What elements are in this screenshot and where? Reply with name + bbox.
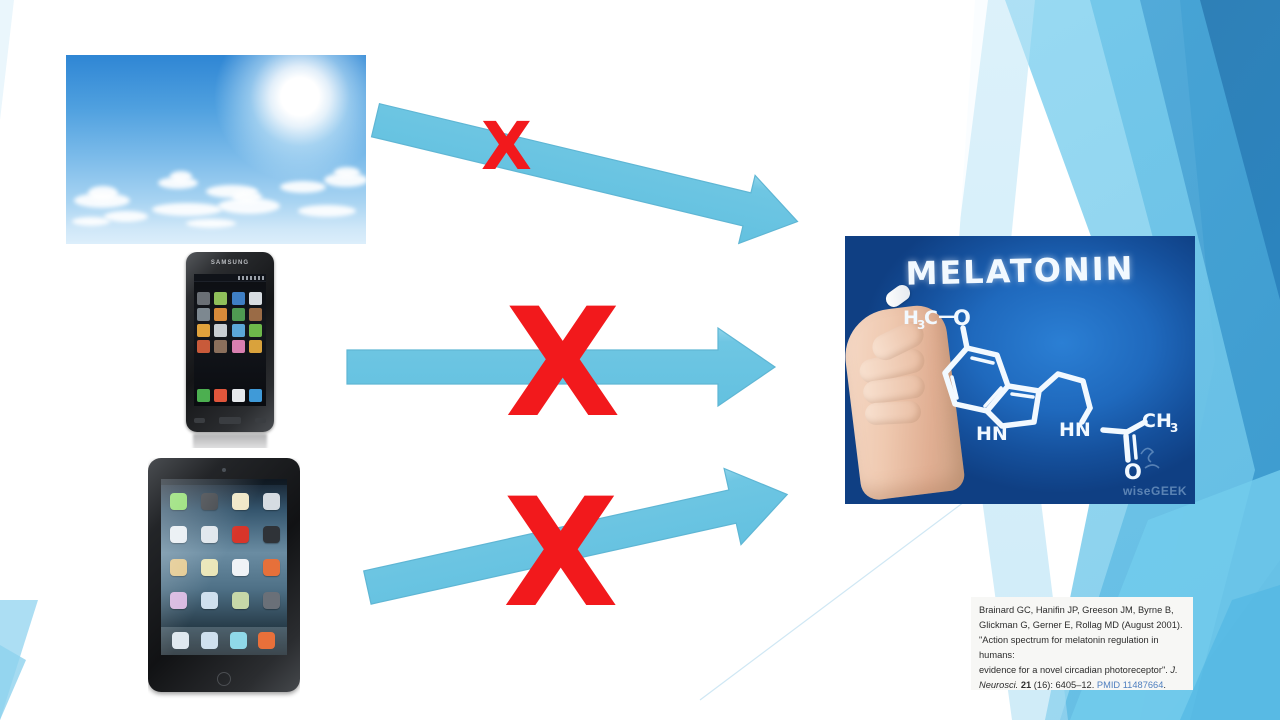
phone-body: SAMSUNG — [186, 252, 274, 432]
phone-app-grid — [197, 292, 263, 353]
citation-box: Brainard GC, Hanifin JP, Greeson JM, Byr… — [971, 597, 1193, 690]
x-mark-smartphone: X — [505, 289, 621, 439]
melatonin-photo: MELATONIN — [845, 236, 1195, 504]
citation-line-5: Neurosci. 21 (16): 6405–12. PMID 1148766… — [979, 678, 1186, 693]
svg-text:O: O — [953, 306, 971, 330]
tablet-body — [148, 458, 300, 692]
citation-line-3: "Action spectrum for melatonin regulatio… — [979, 633, 1186, 663]
x-mark-tablet: X — [503, 479, 619, 629]
phone-reflection — [193, 434, 267, 448]
x-mark-sunlight: X — [481, 114, 532, 180]
arrow-sunlight — [367, 86, 805, 255]
tablet-camera — [222, 468, 226, 472]
phone-status-bar — [194, 274, 266, 282]
svg-text:3: 3 — [1170, 421, 1178, 435]
tablet-dock — [172, 632, 276, 649]
phone-brand-label: SAMSUNG — [186, 260, 274, 266]
phone-screen — [194, 274, 266, 406]
label-indole-nh: HN — [976, 423, 1008, 445]
slide-canvas: SAMSUNG — [0, 0, 1280, 720]
sunlight-photo — [66, 55, 366, 244]
citation-line-1: Brainard GC, Hanifin JP, Greeson JM, Byr… — [979, 603, 1186, 618]
tablet-home-button — [217, 672, 231, 686]
label-carbonyl-o: O — [1124, 460, 1142, 484]
label-amide-nh: HN — [1059, 419, 1091, 441]
pmid-link[interactable]: PMID 11487664 — [1097, 680, 1164, 690]
citation-line-2: Glickman G, Gerner E, Rollag MD (August … — [979, 618, 1186, 633]
tablet-screen — [161, 479, 287, 655]
citation-line-4: evidence for a novel circadian photorece… — [979, 663, 1186, 678]
phone-hardware-buttons — [194, 414, 266, 426]
label-methyl: CH — [1142, 410, 1172, 432]
tablet-status-bar — [161, 479, 287, 485]
wisegeek-watermark: wiseGEEK — [1123, 484, 1187, 498]
tablet-photo — [148, 458, 300, 701]
smartphone-photo: SAMSUNG — [181, 252, 279, 448]
tablet-app-grid — [170, 493, 278, 609]
phone-dock — [197, 389, 263, 402]
